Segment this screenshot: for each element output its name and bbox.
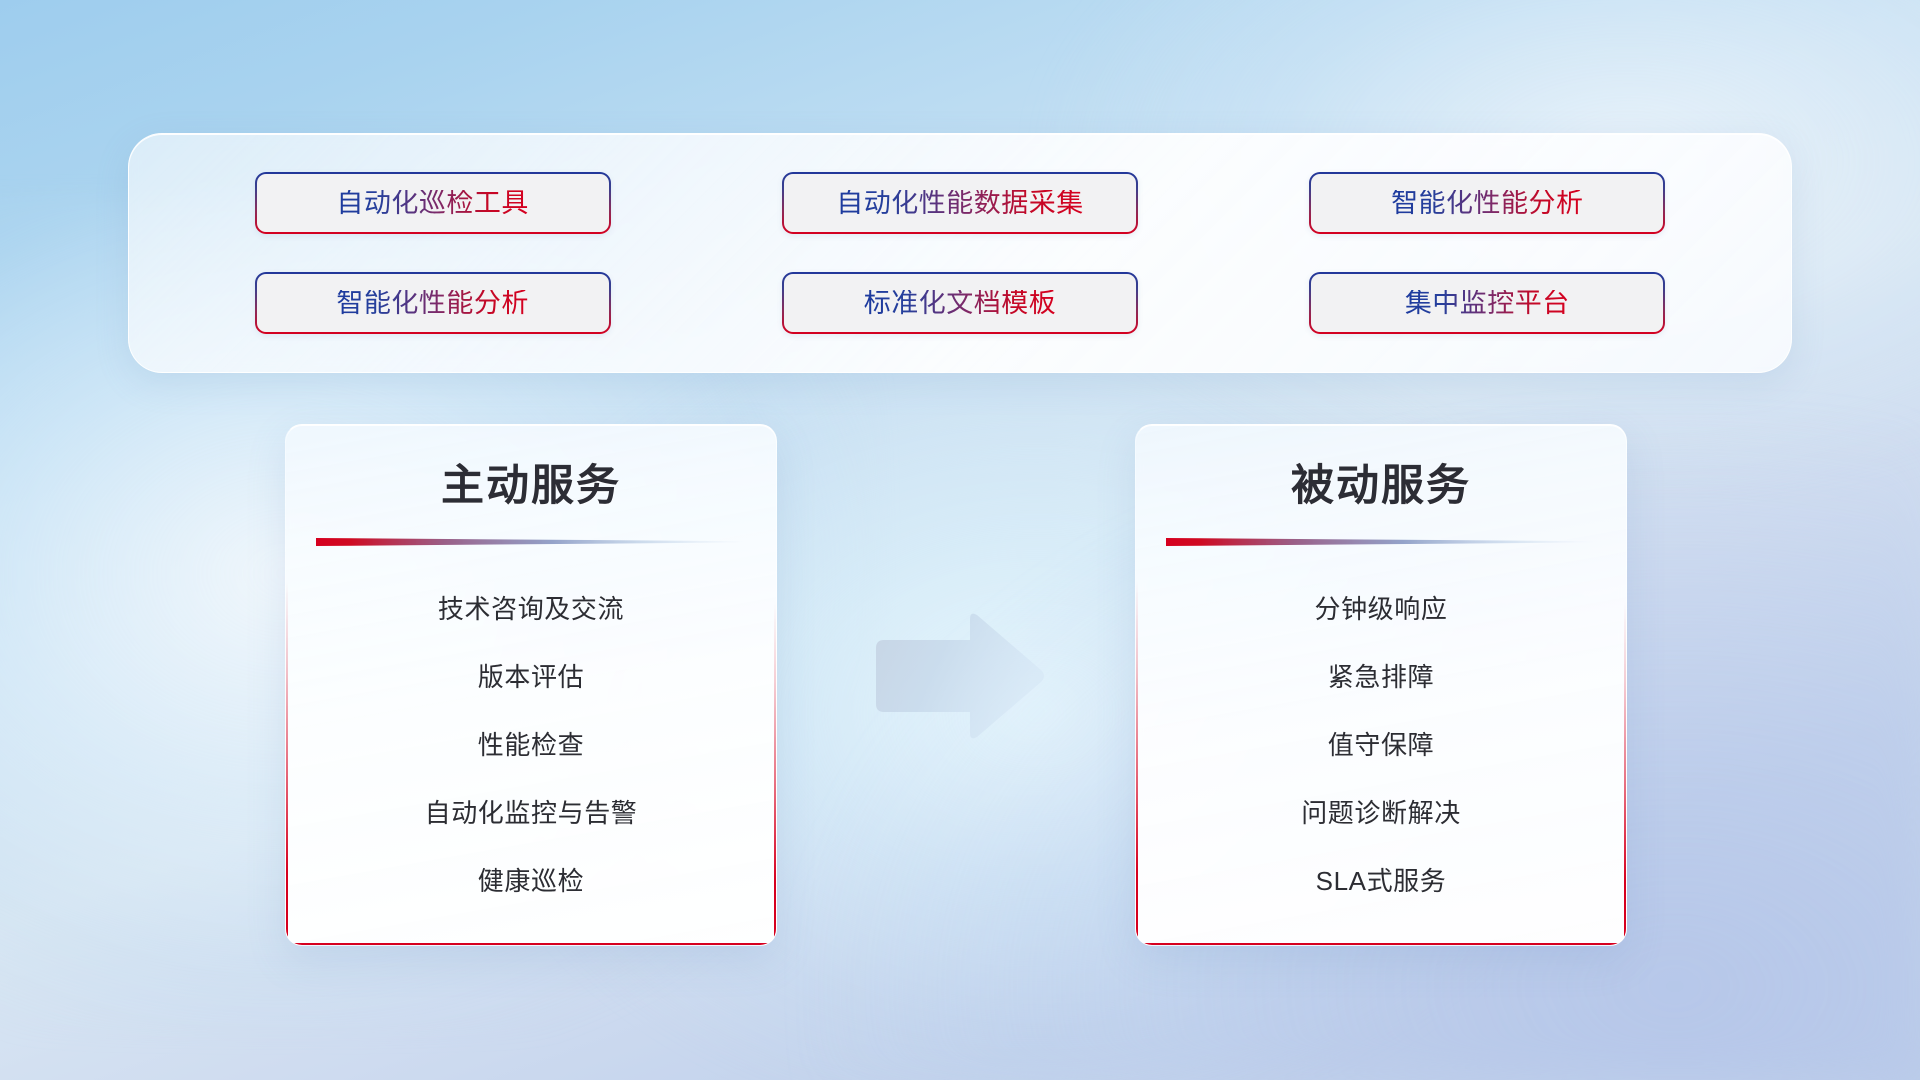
- list-item: SLA式服务: [1160, 847, 1602, 915]
- list-item: 技术咨询及交流: [310, 575, 752, 643]
- service-card-reactive: 被动服务 分钟级响应 紧急排障 值守保障 问题诊断解决 SLA式服务: [1135, 424, 1627, 946]
- capability-pill-4-inner: 智能化性能分析: [257, 274, 609, 332]
- capability-pill-6-label: 集中监控平台: [1405, 290, 1570, 317]
- capability-pill-5[interactable]: 标准化文档模板: [782, 272, 1138, 334]
- capability-pill-3-label: 智能化性能分析: [1391, 190, 1584, 217]
- capability-pill-4-label: 智能化性能分析: [336, 290, 529, 317]
- service-card-reactive-list: 分钟级响应 紧急排障 值守保障 问题诊断解决 SLA式服务: [1136, 547, 1626, 915]
- list-item: 自动化监控与告警: [310, 779, 752, 847]
- card-accent-edge-bottom: [1136, 943, 1626, 946]
- card-accent-edge-right: [774, 425, 776, 945]
- capability-panel: 自动化巡检工具 自动化性能数据采集 智能化性能分析 智能化性能分析 标准化文档模…: [128, 133, 1792, 373]
- capability-pill-2-inner: 自动化性能数据采集: [784, 174, 1136, 232]
- capability-pill-3-inner: 智能化性能分析: [1311, 174, 1663, 232]
- capability-pill-2-label: 自动化性能数据采集: [836, 190, 1084, 217]
- capability-pill-6-inner: 集中监控平台: [1311, 274, 1663, 332]
- capability-pill-4[interactable]: 智能化性能分析: [255, 272, 611, 334]
- card-accent-edge-left: [1136, 425, 1138, 945]
- list-item: 值守保障: [1160, 711, 1602, 779]
- list-item: 健康巡检: [310, 847, 752, 915]
- card-accent-edge-right: [1624, 425, 1626, 945]
- capability-pill-5-label: 标准化文档模板: [864, 290, 1057, 317]
- list-item: 紧急排障: [1160, 643, 1602, 711]
- capability-pill-1[interactable]: 自动化巡检工具: [255, 172, 611, 234]
- service-card-proactive-title: 主动服务: [286, 425, 776, 510]
- capability-pill-5-inner: 标准化文档模板: [784, 274, 1136, 332]
- service-card-proactive: 主动服务 技术咨询及交流 版本评估 性能检查 自动化监控与告警 健康巡检: [285, 424, 777, 946]
- capability-pill-1-inner: 自动化巡检工具: [257, 174, 609, 232]
- card-divider-proactive: [316, 536, 746, 547]
- capability-pill-grid: 自动化巡检工具 自动化性能数据采集 智能化性能分析 智能化性能分析 标准化文档模…: [129, 134, 1791, 372]
- card-accent-edge-bottom: [286, 943, 776, 946]
- card-accent-edge-left: [286, 425, 288, 945]
- service-card-proactive-list: 技术咨询及交流 版本评估 性能检查 自动化监控与告警 健康巡检: [286, 547, 776, 915]
- list-item: 性能检查: [310, 711, 752, 779]
- capability-pill-3[interactable]: 智能化性能分析: [1309, 172, 1665, 234]
- list-item: 版本评估: [310, 643, 752, 711]
- arrow-right-icon: [868, 610, 1048, 742]
- list-item: 分钟级响应: [1160, 575, 1602, 643]
- capability-pill-2[interactable]: 自动化性能数据采集: [782, 172, 1138, 234]
- capability-pill-6[interactable]: 集中监控平台: [1309, 272, 1665, 334]
- card-divider-reactive: [1166, 536, 1596, 547]
- list-item: 问题诊断解决: [1160, 779, 1602, 847]
- capability-pill-1-label: 自动化巡检工具: [336, 190, 529, 217]
- service-card-reactive-title: 被动服务: [1136, 425, 1626, 510]
